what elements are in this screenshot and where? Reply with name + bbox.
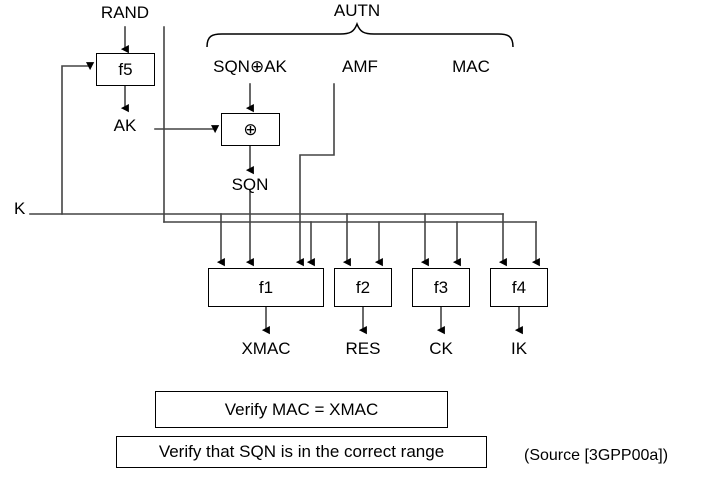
source-note: (Source [3GPP00a]) bbox=[524, 447, 668, 465]
wire-k-to-f5 bbox=[62, 66, 90, 214]
label-sqn: SQN bbox=[232, 176, 269, 193]
label-ak: AK bbox=[114, 117, 137, 134]
function-box-f5-label: f5 bbox=[118, 60, 132, 80]
label-sqn-xor-ak: SQN⊕AK bbox=[213, 58, 287, 75]
function-box-f1[interactable]: f1 bbox=[208, 268, 324, 307]
function-box-f2-label: f2 bbox=[356, 278, 370, 298]
function-box-f2[interactable]: f2 bbox=[334, 268, 392, 307]
label-ck: CK bbox=[429, 340, 453, 357]
label-res: RES bbox=[346, 340, 381, 357]
label-k: K bbox=[14, 200, 25, 217]
label-autn: AUTN bbox=[334, 2, 380, 19]
label-amf: AMF bbox=[342, 58, 378, 75]
function-box-f5[interactable]: f5 bbox=[96, 53, 155, 86]
wire-amf-to-f1 bbox=[300, 84, 334, 262]
function-box-f4[interactable]: f4 bbox=[490, 268, 548, 307]
xor-box[interactable]: ⊕ bbox=[221, 113, 280, 146]
function-box-f3[interactable]: f3 bbox=[412, 268, 470, 307]
verify-sqn-text: Verify that SQN is in the correct range bbox=[159, 442, 444, 462]
label-mac: MAC bbox=[452, 58, 490, 75]
label-xmac: XMAC bbox=[241, 340, 290, 357]
verify-sqn-box: Verify that SQN is in the correct range bbox=[116, 436, 487, 468]
xor-symbol: ⊕ bbox=[243, 120, 257, 140]
function-box-f4-label: f4 bbox=[512, 278, 526, 298]
label-ik: IK bbox=[511, 340, 527, 357]
verify-mac-text: Verify MAC = XMAC bbox=[225, 400, 379, 420]
authentication-diagram: RAND K AUTN SQN⊕AK AMF MAC AK SQN f5 ⊕ f… bbox=[0, 0, 712, 482]
function-box-f1-label: f1 bbox=[259, 278, 273, 298]
autn-brace bbox=[207, 24, 513, 47]
label-rand: RAND bbox=[101, 4, 149, 21]
function-box-f3-label: f3 bbox=[434, 278, 448, 298]
verify-mac-box: Verify MAC = XMAC bbox=[155, 391, 448, 428]
